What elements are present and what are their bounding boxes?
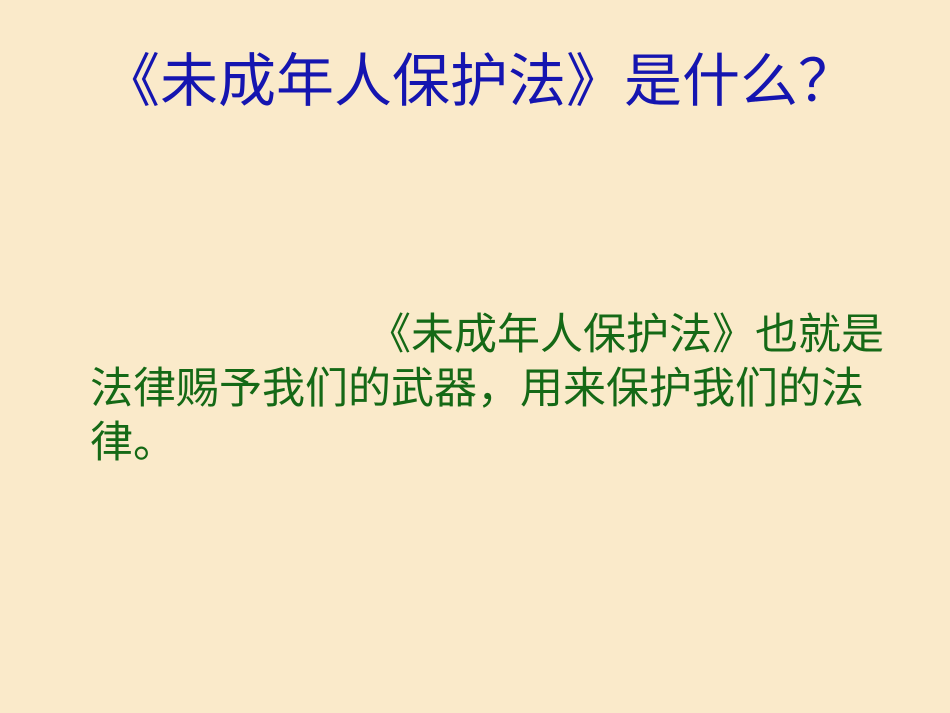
slide-title-block: 《未成年人保护法》是什么？ (0, 44, 950, 134)
presentation-slide: 《未成年人保护法》是什么？ 《未成年人保护法》也就是法律赐予我们的武器，用来保护… (0, 0, 950, 713)
page-title: 《未成年人保护法》是什么？ (0, 44, 950, 118)
slide-body-text: 《未成年人保护法》也就是法律赐予我们的武器，用来保护我们的法律。 (90, 308, 920, 470)
slide-body-block: 《未成年人保护法》也就是法律赐予我们的武器，用来保护我们的法律。 (90, 308, 920, 470)
